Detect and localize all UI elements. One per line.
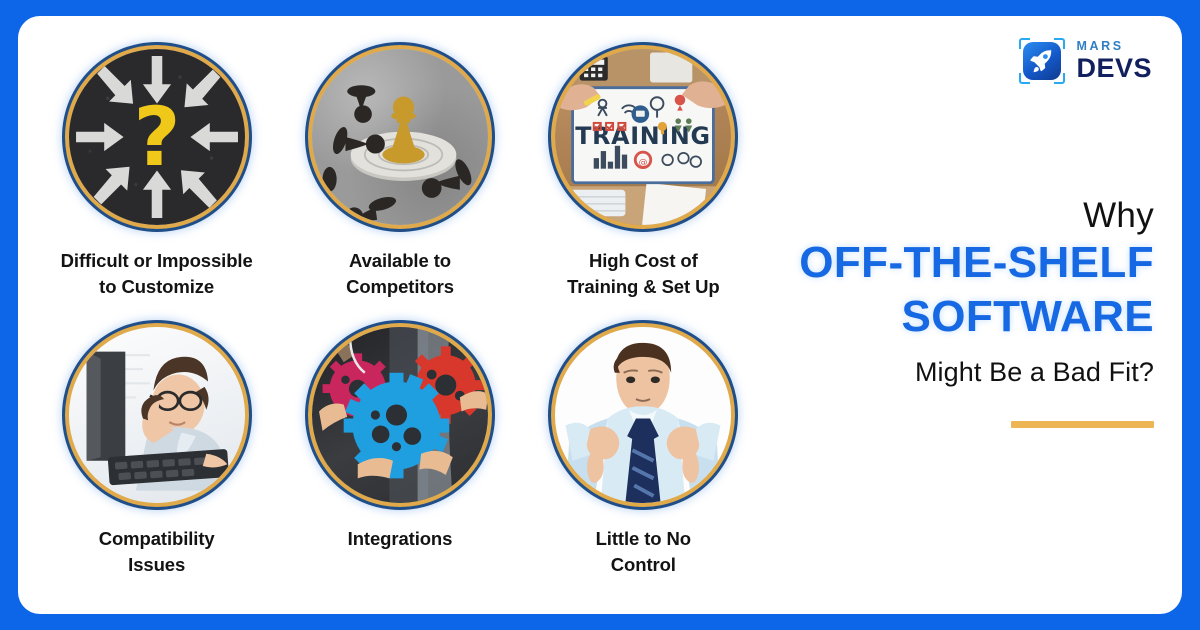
reason-card-4: Compatibility Issues [40, 320, 273, 598]
image-ring-3: TRAINING [548, 42, 738, 232]
reason-card-2: Available to Competitors [283, 42, 516, 320]
brand-name-top: MARS [1076, 40, 1152, 53]
training-scene-glyphs: TRAINING [555, 49, 731, 225]
reason-caption-6: Little to No Control [596, 526, 691, 579]
caption-line: Compatibility [99, 526, 215, 552]
training-board-photo: TRAINING [555, 49, 731, 225]
headline-eyebrow: Why [734, 196, 1154, 236]
caption-line: Control [596, 552, 691, 578]
reason-card-6: Little to No Control [527, 320, 760, 598]
reason-caption-4: Compatibility Issues [99, 526, 215, 579]
thumbs-down-glyphs [555, 327, 731, 503]
caption-line: High Cost of [567, 248, 719, 274]
reason-card-1: ? Difficult or Impossible to Customize [40, 42, 273, 320]
reason-caption-1: Difficult or Impossible to Customize [61, 248, 253, 301]
rocket-glyph [1028, 47, 1056, 75]
brand-wordmark: MARS DEVS [1076, 40, 1152, 83]
reason-caption-3: High Cost of Training & Set Up [567, 248, 719, 301]
content-card: MARS DEVS [18, 16, 1182, 614]
reason-caption-5: Integrations [348, 526, 453, 552]
caption-line: to Customize [61, 274, 253, 300]
svg-text:?: ? [133, 91, 180, 185]
reason-card-3: TRAINING [527, 42, 760, 320]
headline-subhead: Might Be a Bad Fit? [734, 356, 1154, 390]
reason-caption-2: Available to Competitors [346, 248, 454, 301]
headline-line-2: SOFTWARE [734, 290, 1154, 344]
chess-pieces-glyphs [312, 49, 488, 225]
caption-line: Difficult or Impossible [61, 248, 253, 274]
thumbs-down-man-photo [555, 327, 731, 503]
image-ring-1: ? [62, 42, 252, 232]
svg-text:@: @ [639, 158, 648, 168]
caption-line: Little to No [596, 526, 691, 552]
frustrated-user-glyphs [69, 327, 245, 503]
caption-line: Integrations [348, 526, 453, 552]
gears-glyphs [312, 327, 488, 503]
headline-panel: Why OFF-THE-SHELF SOFTWARE Might Be a Ba… [734, 196, 1154, 428]
poster-root: MARS DEVS [0, 0, 1200, 630]
frustrated-woman-photo [69, 327, 245, 503]
caption-line: Competitors [346, 274, 454, 300]
rocket-icon [1019, 38, 1065, 84]
arrows-and-question-glyphs: ? [69, 49, 245, 225]
brand-logo[interactable]: MARS DEVS [1019, 38, 1152, 84]
image-ring-4 [62, 320, 252, 510]
reasons-grid: ? Difficult or Impossible to Customize [40, 42, 760, 598]
caption-line: Training & Set Up [567, 274, 719, 300]
caption-line: Issues [99, 552, 215, 578]
image-ring-6 [548, 320, 738, 510]
gears-in-hands-photo [312, 327, 488, 503]
caption-line: Available to [346, 248, 454, 274]
arrows-question-mark-photo: ? [69, 49, 245, 225]
image-ring-2 [305, 42, 495, 232]
image-ring-5 [305, 320, 495, 510]
headline-line-1: OFF-THE-SHELF [734, 236, 1154, 290]
reason-card-5: Integrations [283, 320, 516, 598]
chess-pawns-photo [312, 49, 488, 225]
accent-rule [1011, 421, 1154, 428]
brand-name-bottom: DEVS [1076, 55, 1152, 82]
